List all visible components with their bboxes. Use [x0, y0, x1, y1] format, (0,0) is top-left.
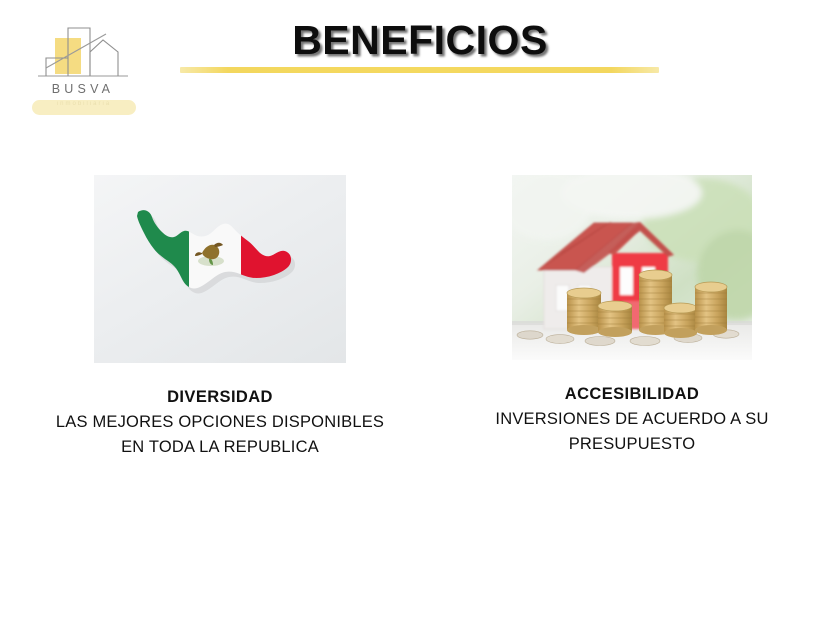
brand-logo: BUSVA inmobiliaria [28, 20, 138, 120]
page-title: BENEFICIOS [180, 17, 660, 64]
building-outline-icon [28, 20, 138, 88]
slide: BUSVA inmobiliaria BENEFICIOS [0, 0, 840, 630]
benefit-caption-left: DIVERSIDAD LAS MEJORES OPCIONES DISPONIB… [14, 385, 426, 461]
logo-wordmark: BUSVA [28, 82, 138, 96]
logo-subtitle-highlight: inmobiliaria [32, 100, 136, 115]
benefit-body: INVERSIONES DE ACUERDO A SU PRESUPUESTO [452, 407, 812, 458]
benefit-caption-right: ACCESIBILIDAD INVERSIONES DE ACUERDO A S… [452, 382, 812, 458]
title-divider [180, 67, 659, 73]
benefit-card-diversidad: DIVERSIDAD LAS MEJORES OPCIONES DISPONIB… [14, 175, 426, 461]
benefit-heading: ACCESIBILIDAD [452, 382, 812, 407]
benefit-heading: DIVERSIDAD [14, 385, 426, 410]
benefit-body: LAS MEJORES OPCIONES DISPONIBLES EN TODA… [14, 410, 426, 461]
logo-subtitle: inmobiliaria [32, 101, 136, 107]
mexico-map-flag-image [94, 175, 346, 363]
benefit-card-accesibilidad: ACCESIBILIDAD INVERSIONES DE ACUERDO A S… [452, 175, 812, 458]
house-with-coin-stacks-image [512, 175, 752, 360]
